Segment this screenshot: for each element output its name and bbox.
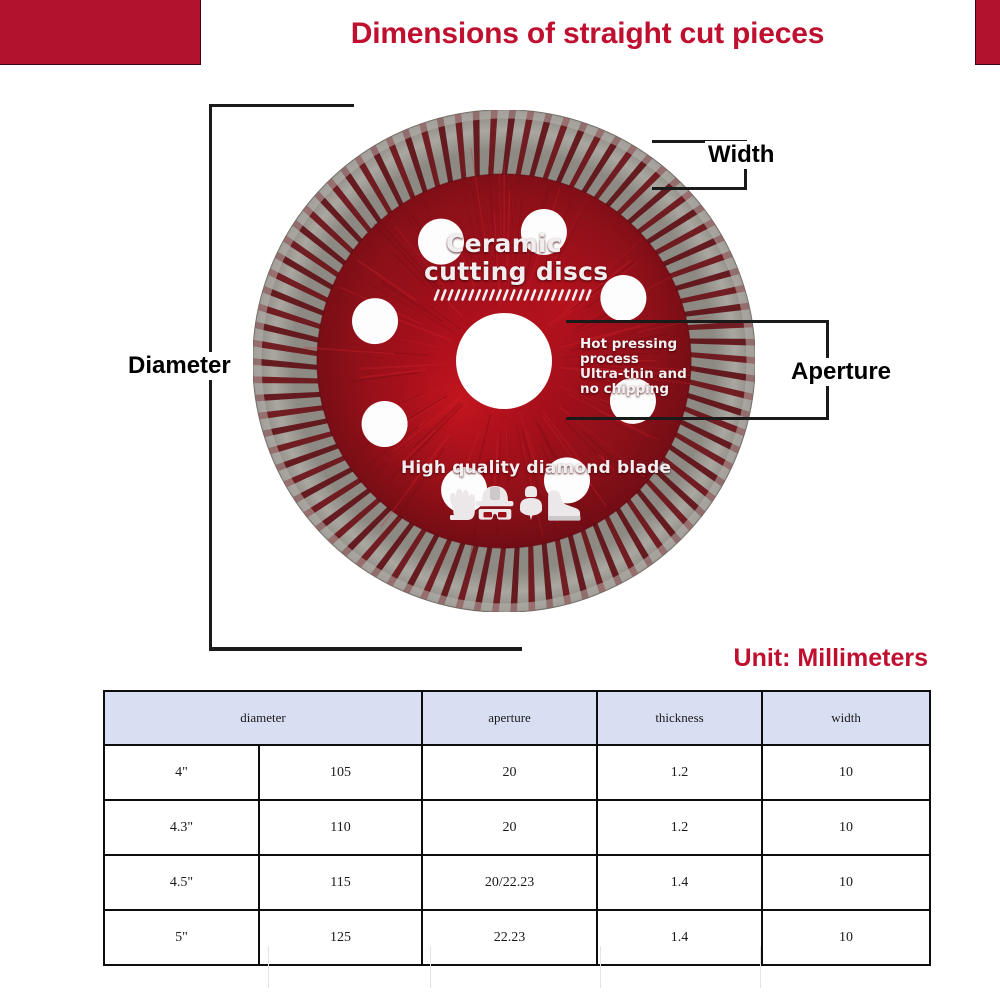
column-header-width: width (762, 691, 930, 745)
table-ghost-gridline (760, 946, 761, 988)
cooling-hole (362, 401, 408, 447)
table-cell-diameter-mm: 110 (259, 800, 422, 855)
diameter-label: Diameter (124, 352, 235, 380)
table-cell-thickness: 1.2 (597, 745, 762, 800)
column-header-aperture: aperture (422, 691, 597, 745)
safety-helmet-goggles-icon (476, 486, 514, 520)
table-cell-aperture: 22.23 (422, 910, 597, 965)
feature-line: process (580, 352, 700, 367)
page-title: Dimensions of straight cut pieces (200, 8, 975, 60)
table-cell-diameter: 4" (104, 745, 259, 800)
width-label: Width (705, 141, 777, 169)
ppe-icon-row (444, 483, 584, 523)
arbor-hole (456, 313, 552, 409)
table-ghost-gridline (430, 946, 431, 988)
aperture-label: Aperture (788, 358, 894, 386)
feature-line: no chipping (580, 382, 700, 397)
aperture-tick-top (566, 320, 829, 323)
table-cell-aperture: 20 (422, 745, 597, 800)
respirator-mask-icon (520, 486, 542, 520)
header-accent-block-right (975, 0, 1000, 65)
table-cell-aperture: 20 (422, 800, 597, 855)
specification-table: diameter aperture thickness width 4"1052… (103, 690, 931, 966)
table-body: 4"105201.2104.3"110201.2104.5"11520/22.2… (104, 745, 930, 965)
cooling-hole (600, 275, 646, 321)
table-header: diameter aperture thickness width (104, 691, 930, 745)
unit-note: Unit: Millimeters (734, 644, 928, 673)
table-row: 4.5"11520/22.231.410 (104, 855, 930, 910)
table-cell-width: 10 (762, 910, 930, 965)
aperture-tick-bottom (566, 417, 829, 420)
table-cell-diameter-mm: 115 (259, 855, 422, 910)
width-tick-bottom (652, 187, 747, 190)
table-row: 4.3"110201.210 (104, 800, 930, 855)
feature-line: Ultra-thin and (580, 367, 700, 382)
table-cell-thickness: 1.4 (597, 910, 762, 965)
table-cell-width: 10 (762, 745, 930, 800)
table-cell-thickness: 1.4 (597, 855, 762, 910)
table-ghost-gridline (600, 946, 601, 988)
diameter-tick-top (209, 104, 354, 107)
table-header-row: diameter aperture thickness width (104, 691, 930, 745)
product-features-text: Hot pressingprocessUltra-thin andno chip… (580, 337, 700, 397)
safety-glove-icon (450, 489, 475, 520)
column-header-thickness: thickness (597, 691, 762, 745)
header-accent-block-left (0, 0, 201, 65)
hatch-decoration-icon (432, 288, 592, 302)
table-cell-aperture: 20/22.23 (422, 855, 597, 910)
table-cell-width: 10 (762, 855, 930, 910)
table-cell-width: 10 (762, 800, 930, 855)
table-row: 4"105201.210 (104, 745, 930, 800)
table-cell-thickness: 1.2 (597, 800, 762, 855)
cooling-hole (352, 298, 398, 344)
table-cell-diameter: 4.3" (104, 800, 259, 855)
cooling-hole (418, 219, 464, 265)
feature-line: Hot pressing (580, 337, 700, 352)
table-cell-diameter: 5" (104, 910, 259, 965)
cooling-hole (521, 209, 567, 255)
table-cell-diameter-mm: 105 (259, 745, 422, 800)
table-ghost-gridline (268, 946, 269, 988)
product-spec-sheet: Dimensions of straight cut pieces (0, 0, 1000, 1000)
table-row: 5"12522.231.410 (104, 910, 930, 965)
table-cell-diameter: 4.5" (104, 855, 259, 910)
safety-boot-icon (548, 490, 581, 520)
column-header-diameter: diameter (104, 691, 422, 745)
diameter-tick-bottom (209, 647, 522, 651)
table-cell-diameter-mm: 125 (259, 910, 422, 965)
